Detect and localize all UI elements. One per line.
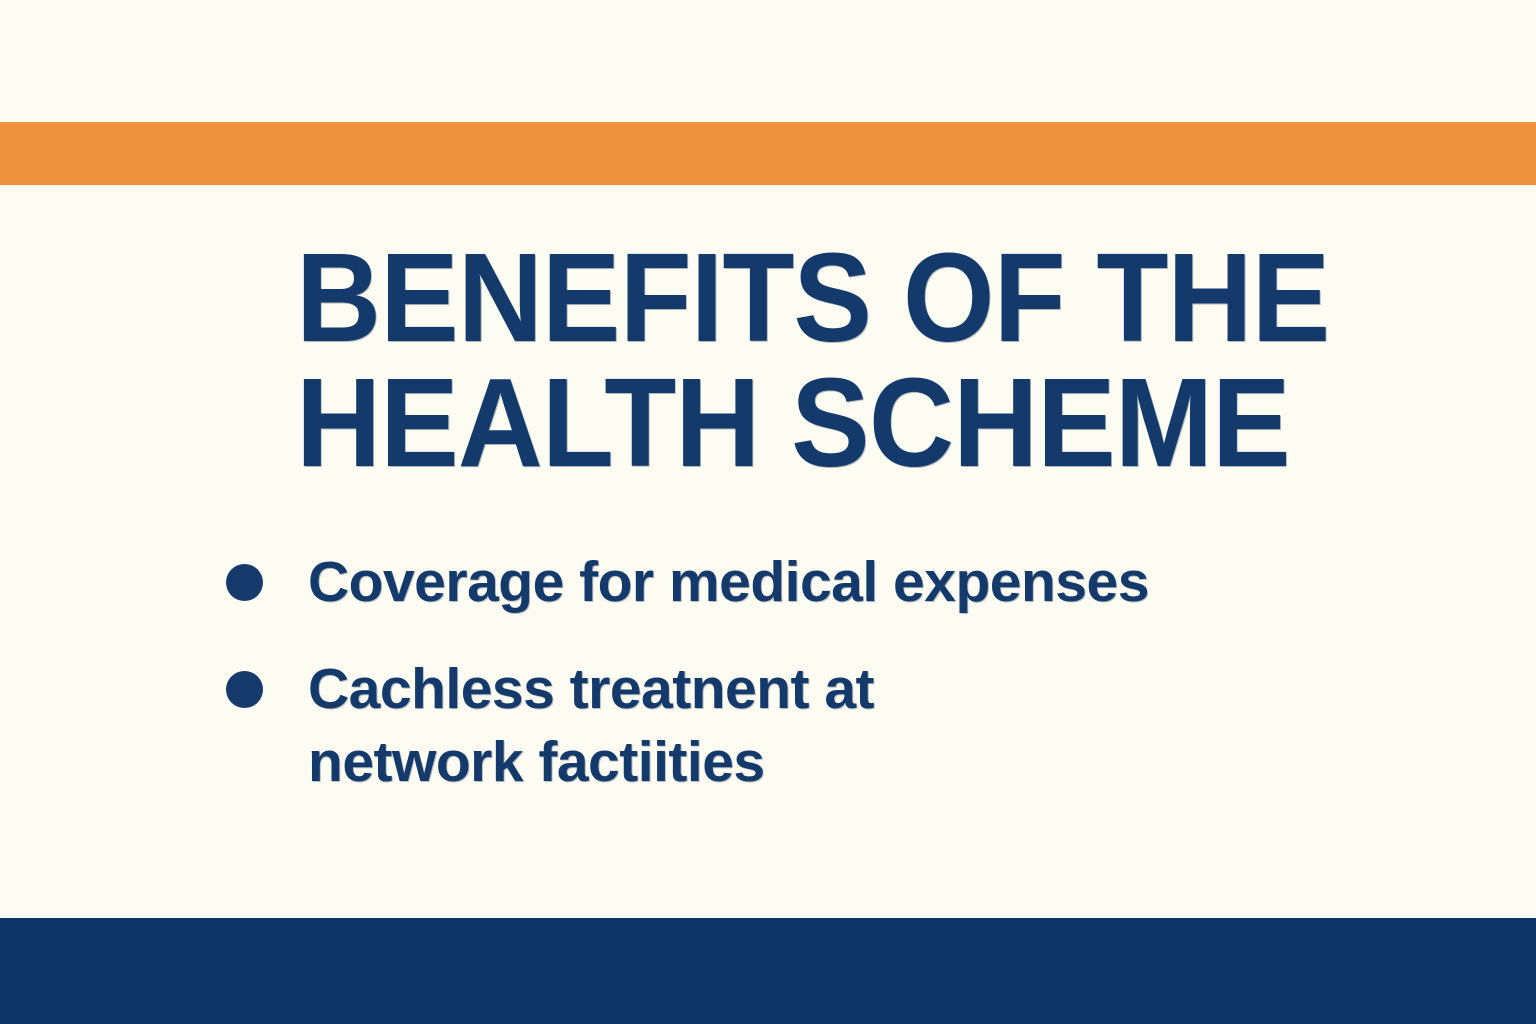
bullet-dot-icon (226, 564, 263, 601)
list-item-text-line: network factiities (308, 726, 874, 799)
list-item: Coverage for medical expenses (226, 546, 1426, 619)
page-title-line-2: HEALTH SCHEME (296, 361, 1399, 486)
orange-accent-band (0, 122, 1536, 185)
list-item-text-line: Cachless treatnent at (308, 653, 874, 726)
list-item-text-line: Coverage for medical expenses (308, 546, 1149, 619)
bullet-dot-icon (226, 671, 263, 708)
page-title-line-1: BENEFITS OF THE (296, 236, 1399, 361)
benefits-list: Coverage for medical expenses Cachless t… (226, 546, 1426, 833)
list-item-text: Coverage for medical expenses (308, 546, 1149, 619)
presentation-slide: BENEFITS OF THE HEALTH SCHEME Coverage f… (0, 0, 1536, 1024)
page-title: BENEFITS OF THE HEALTH SCHEME (296, 236, 1476, 485)
navy-footer-band (0, 918, 1536, 1024)
list-item: Cachless treatnent at network factiities (226, 653, 1426, 799)
list-item-text: Cachless treatnent at network factiities (308, 653, 874, 799)
